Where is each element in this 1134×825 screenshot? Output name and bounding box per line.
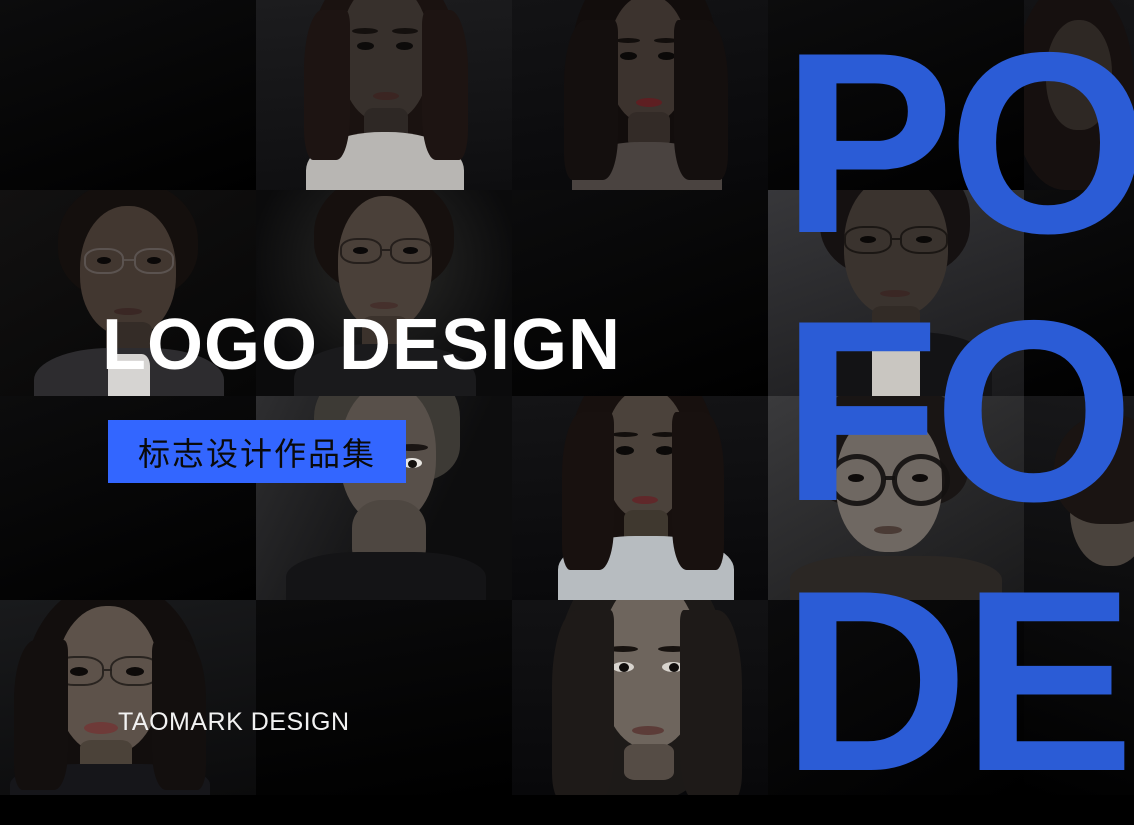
page-title: LOGO DESIGN xyxy=(102,303,621,387)
poster-canvas: { "poster": { "headline": "LOGO DESIGN",… xyxy=(0,0,1134,795)
big-letters-line-1: PO xyxy=(782,14,1134,272)
subtitle-badge-label: 标志设计作品集 xyxy=(138,429,376,475)
big-letters-line-2: FO xyxy=(782,282,1128,540)
photo-woman-longhair-r1c2 xyxy=(256,0,512,190)
subtitle-badge: 标志设计作品集 xyxy=(108,420,406,483)
big-letters-line-3: DE xyxy=(782,552,1128,810)
photo-woman-smiling-r1c3 xyxy=(512,0,768,190)
photo-woman-portrait-r4c3 xyxy=(512,600,768,795)
photo-empty-r4c2 xyxy=(256,600,512,795)
photo-woman-collar-r3c3 xyxy=(512,396,768,600)
photo-woman-glasses-r4c1 xyxy=(0,600,256,795)
brand-name: TAOMARK DESIGN xyxy=(118,708,350,737)
photo-empty-r1c1 xyxy=(0,0,256,190)
